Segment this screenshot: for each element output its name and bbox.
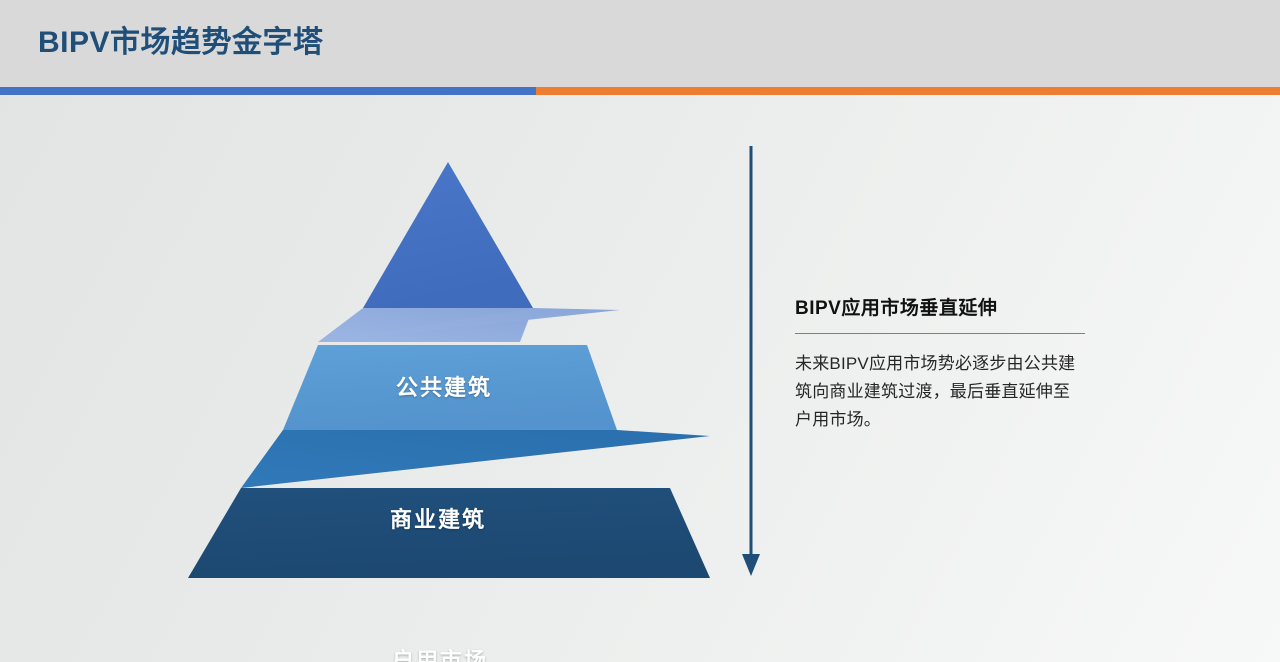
header-rule-blue — [0, 87, 536, 95]
pyramid-tier-label-middle: 商业建筑 — [390, 502, 486, 534]
down-arrow-icon — [735, 140, 767, 582]
pyramid-tier-label-top: 公共建筑 — [396, 370, 492, 402]
info-body-text: 未来BIPV应用市场势必逐步由公共建筑向商业建筑过渡，最后垂直延伸至户用市场。 — [795, 350, 1080, 434]
pyramid-tier-middle-shadow — [241, 430, 710, 488]
pyramid-tier-label-bottom: 户用市场 — [392, 643, 488, 662]
slide-canvas: BIPV市场趋势金字塔 — [0, 0, 1280, 662]
page-title: BIPV市场趋势金字塔 — [38, 24, 324, 62]
info-panel: BIPV应用市场垂直延伸 未来BIPV应用市场势必逐步由公共建筑向商业建筑过渡，… — [795, 295, 1095, 434]
info-heading: BIPV应用市场垂直延伸 — [795, 295, 1095, 323]
pyramid-tier-top — [363, 162, 533, 308]
header-rule-orange — [536, 87, 1280, 95]
pyramid-diagram: 公共建筑 商业建筑 户用市场 — [150, 130, 770, 600]
info-divider — [795, 333, 1085, 334]
